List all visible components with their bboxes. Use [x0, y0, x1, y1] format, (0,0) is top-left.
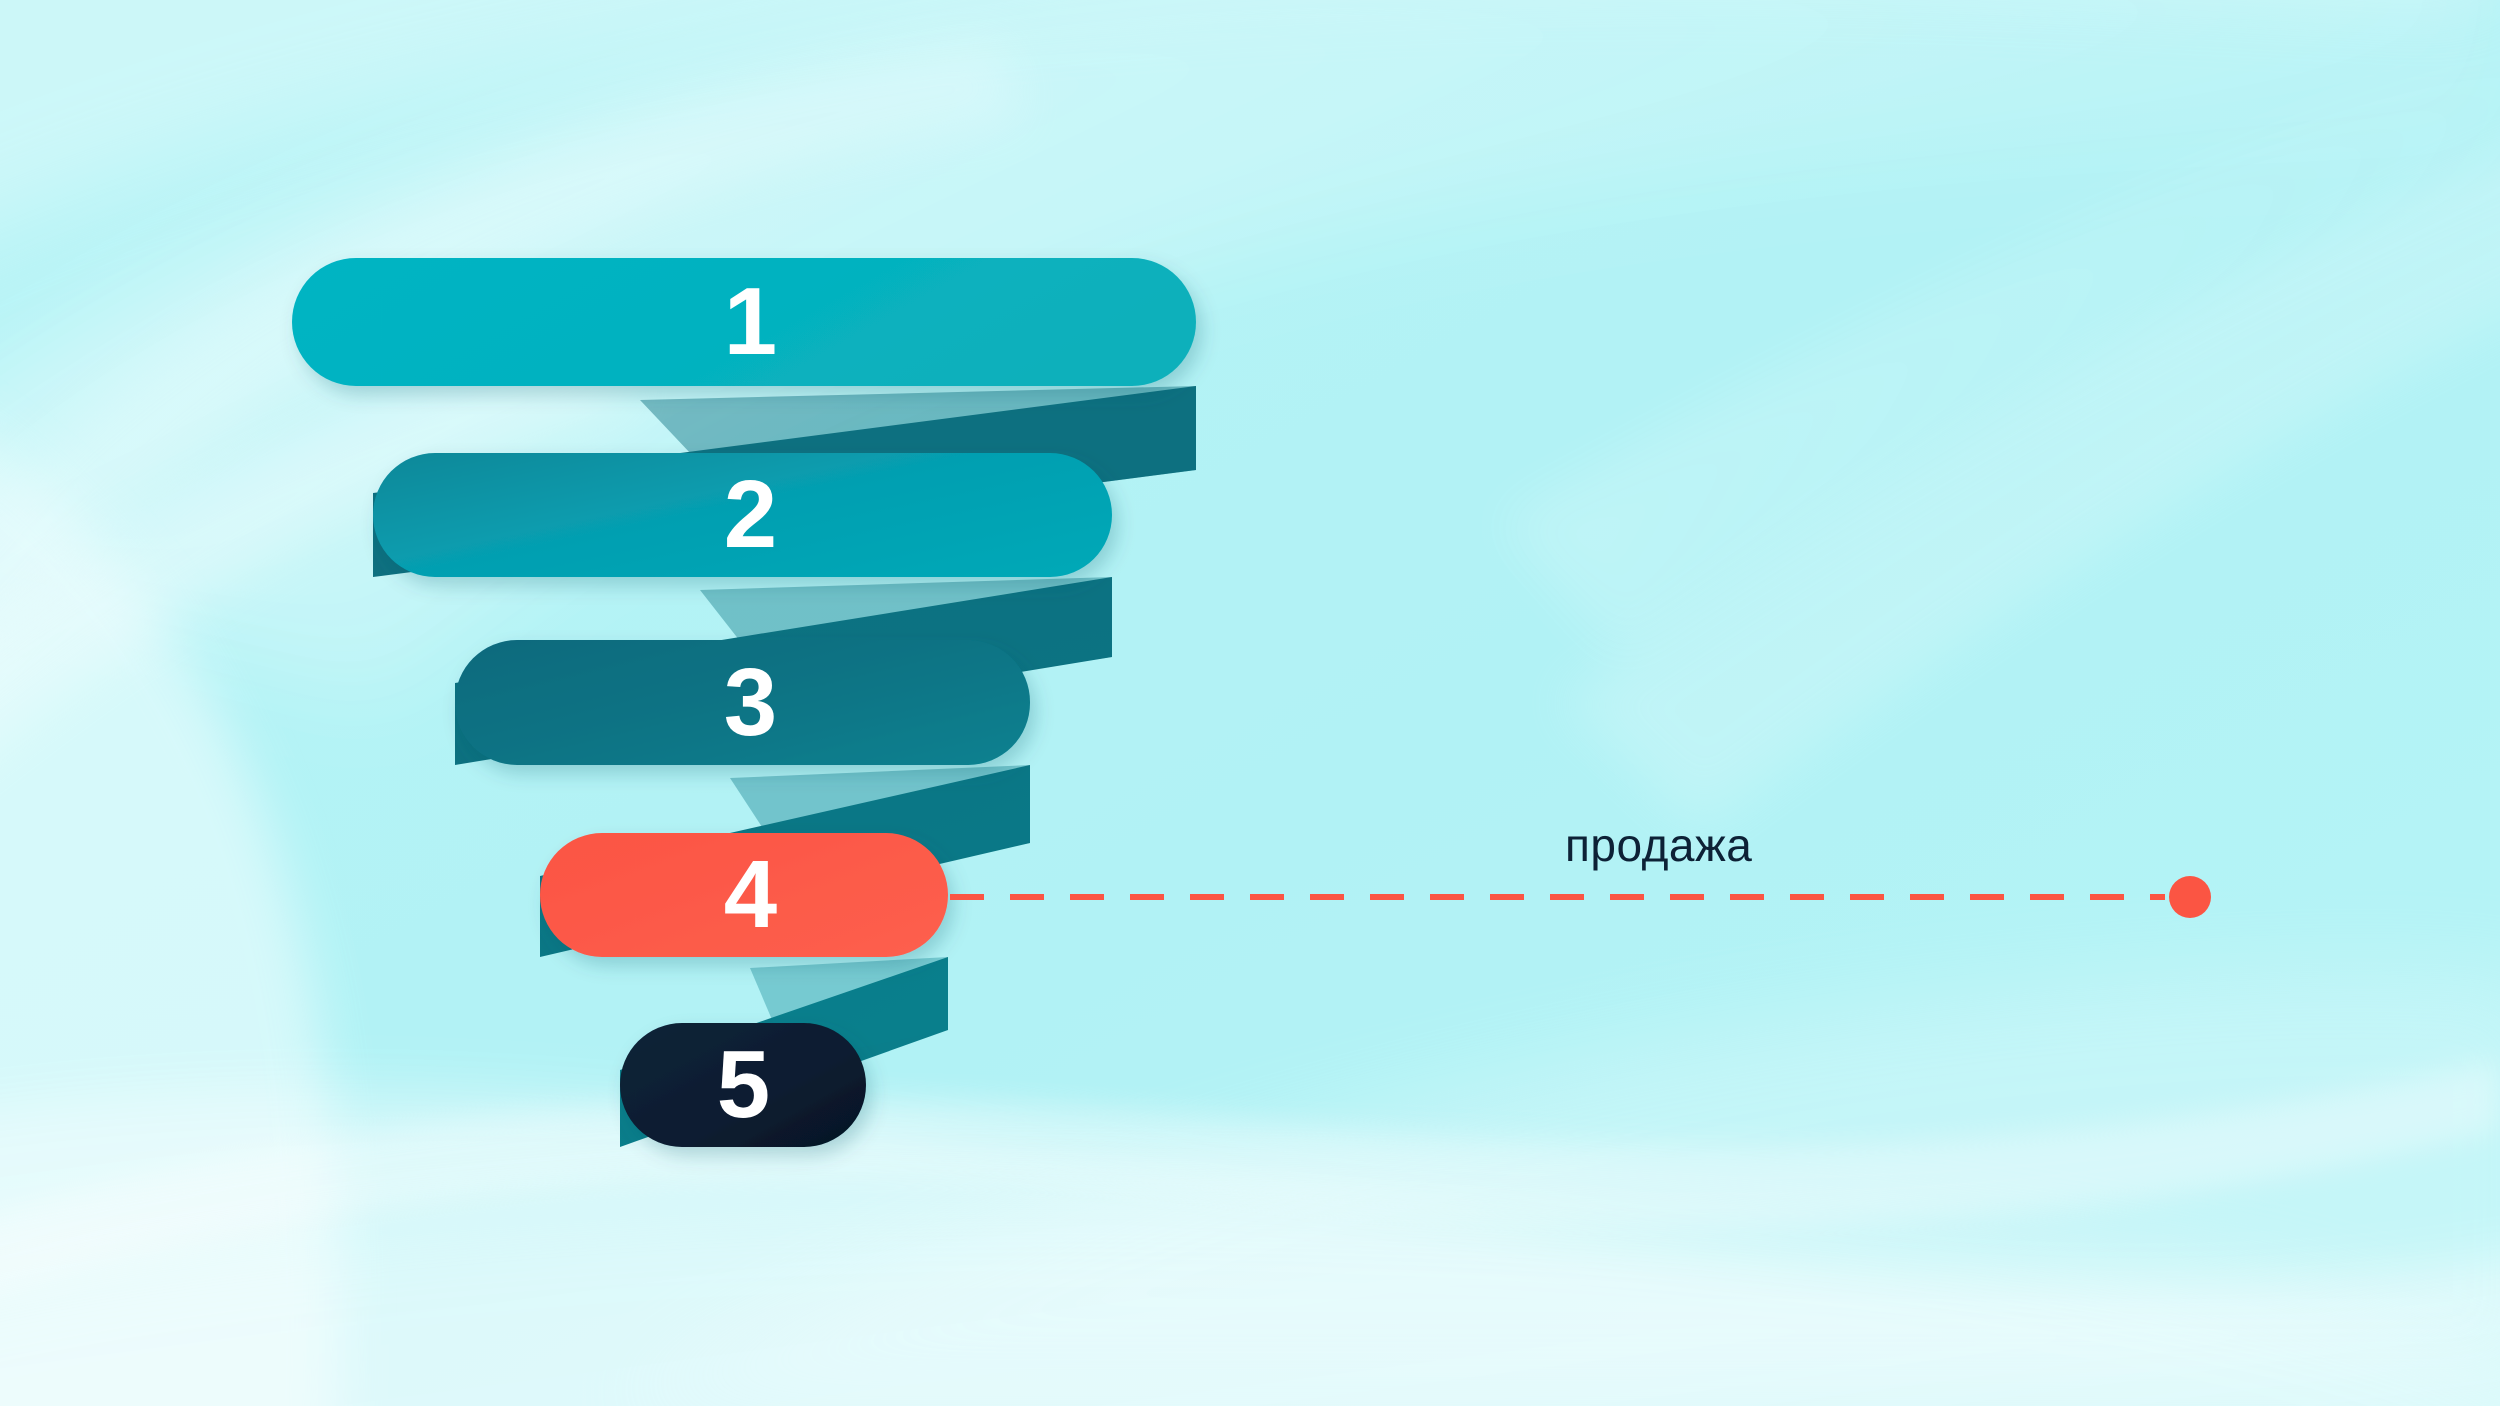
stage-number-5: 5 — [693, 971, 793, 1199]
connector-end-dot[interactable] — [2169, 876, 2211, 918]
funnel-infographic: 1 2 3 4 5 продажа — [0, 0, 2500, 1406]
connector-label: продажа — [1565, 818, 1752, 872]
funnel-graphic — [0, 0, 2500, 1406]
